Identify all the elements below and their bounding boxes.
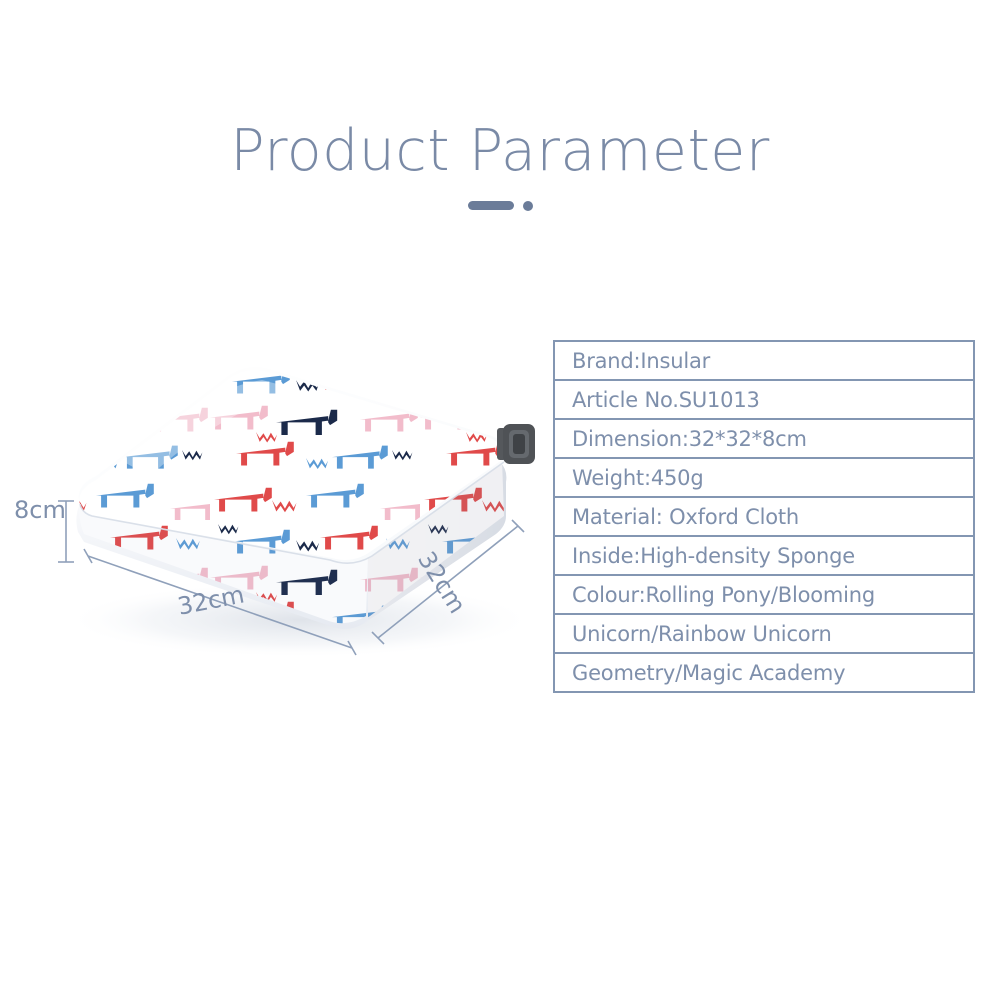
spec-value: Unicorn/Rainbow Unicorn xyxy=(572,622,832,646)
rounded-bar-icon xyxy=(468,201,514,210)
dot-icon xyxy=(523,201,533,211)
spec-value: Geometry/Magic Academy xyxy=(572,661,845,685)
spec-table: Brand:Insular Article No.SU1013 Dimensio… xyxy=(553,340,975,693)
table-row: Inside:High-density Sponge xyxy=(555,537,973,576)
product-image xyxy=(0,320,545,680)
table-row: Colour:Rolling Pony/Blooming xyxy=(555,576,973,615)
table-row: Weight:450g xyxy=(555,459,973,498)
spec-value: Article No.SU1013 xyxy=(572,388,760,412)
spec-value: Dimension:32*32*8cm xyxy=(572,427,807,451)
spec-value: Material: Oxford Cloth xyxy=(572,505,799,529)
table-row: Unicorn/Rainbow Unicorn xyxy=(555,615,973,654)
header: Product Parameter xyxy=(0,122,1000,212)
spec-value: Brand:Insular xyxy=(572,349,710,373)
strap-buckle-icon xyxy=(497,424,535,464)
table-row: Dimension:32*32*8cm xyxy=(555,420,973,459)
page-title: Product Parameter xyxy=(0,122,1000,182)
title-ornament xyxy=(0,200,1000,212)
spec-value: Inside:High-density Sponge xyxy=(572,544,855,568)
dimension-height-label: 8cm xyxy=(14,496,66,524)
spec-value: Colour:Rolling Pony/Blooming xyxy=(572,583,875,607)
table-row: Geometry/Magic Academy xyxy=(555,654,973,693)
table-row: Brand:Insular xyxy=(555,342,973,381)
spec-value: Weight:450g xyxy=(572,466,703,490)
table-row: Material: Oxford Cloth xyxy=(555,498,973,537)
table-row: Article No.SU1013 xyxy=(555,381,973,420)
